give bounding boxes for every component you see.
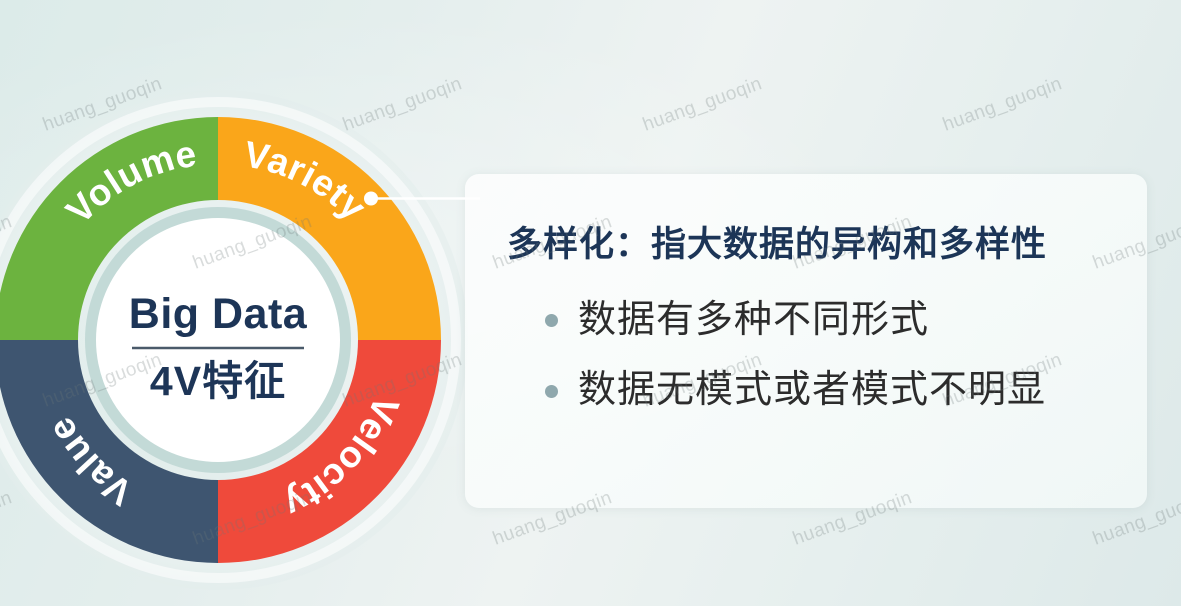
callout-connector: [362, 190, 482, 210]
watermark-text: huang_guoqin: [640, 73, 765, 137]
donut-center-title: Big Data: [129, 290, 308, 338]
panel-title: 多样化：指大数据的异构和多样性: [507, 226, 1107, 265]
watermark-text: huang_guoqin: [940, 73, 1065, 137]
panel-bullet-list: 数据有多种不同形式 数据无模式或者模式不明显: [505, 299, 1107, 413]
list-item: 数据有多种不同形式: [505, 299, 1107, 343]
list-item: 数据无模式或者模式不明显: [505, 369, 1107, 413]
bullet-text: 数据有多种不同形式: [578, 299, 929, 343]
callout-dot-icon: [364, 192, 378, 206]
bullet-text: 数据无模式或者模式不明显: [578, 369, 1046, 413]
donut-center-subtitle: 4V特征: [150, 358, 286, 404]
slide-canvas: Volume Variety Velocity Value Big Data 4…: [0, 0, 1181, 606]
donut-center-hub: [96, 218, 340, 462]
detail-panel: 多样化：指大数据的异构和多样性 数据有多种不同形式 数据无模式或者模式不明显: [465, 174, 1147, 508]
bullet-dot-icon: [545, 314, 558, 327]
bullet-dot-icon: [545, 385, 558, 398]
big-data-4v-donut-chart: Volume Variety Velocity Value Big Data 4…: [0, 90, 468, 590]
